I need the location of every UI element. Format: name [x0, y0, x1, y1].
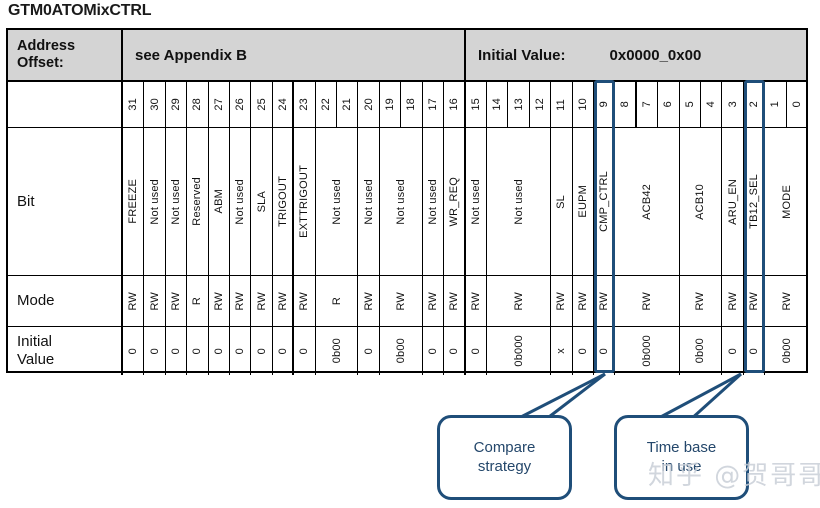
- bit-field-name-cell: ARU_EN: [722, 128, 743, 275]
- bit-field-mode-text: RW: [781, 292, 793, 311]
- bit-field-mode-cell: RW: [294, 276, 315, 326]
- bit-field-name-cell: EXTTRIGOUT: [294, 128, 315, 275]
- bit-field-initial-cell: 0: [123, 327, 144, 375]
- address-offset-label-line2: Offset:: [17, 55, 75, 72]
- bit-field-initial-text: 0: [427, 348, 439, 354]
- bit-field-name-text: Not used: [363, 179, 375, 225]
- mode-row: Mode RWRWRWRRWRWRWRWRWRRWRWRWRWRWRWRWRWR…: [8, 276, 806, 327]
- bit-field-name-cell: ACB42: [615, 128, 679, 275]
- bit-field-initial-text: 0: [298, 348, 310, 354]
- bit-field-name-text: Not used: [427, 179, 439, 225]
- bit-field-name-text: ACB42: [641, 184, 653, 220]
- initial-value-row-label-line1: Initial: [17, 333, 54, 351]
- bit-number-cell: 25: [251, 82, 272, 127]
- bit-field-name-cell: Not used: [487, 128, 551, 275]
- bit-field-name-text: MODE: [781, 185, 793, 219]
- bit-field-mode-text: RW: [213, 292, 225, 311]
- bit-number-text: 7: [641, 101, 653, 107]
- bit-number-cell: 9: [594, 82, 615, 127]
- bit-field-initial-text: 0: [234, 348, 246, 354]
- bit-number-cell: 4: [701, 82, 722, 127]
- bit-field-initial-text: 0: [448, 348, 460, 354]
- bit-field-mode-text: RW: [727, 292, 739, 311]
- initial-value-header: Initial Value: 0x0000_0x00: [466, 30, 806, 80]
- initial-value-row: Initial Value 0000000000b0000b000000b000…: [8, 327, 806, 375]
- bit-field-name-cell: CMP_CTRL: [594, 128, 615, 275]
- bit-number-text: 28: [191, 98, 203, 111]
- bit-number-cell: 0: [787, 82, 808, 127]
- bit-number-cell: 6: [658, 82, 679, 127]
- bit-field-name-text: Not used: [513, 179, 525, 225]
- bit-number-cell: 21: [337, 82, 358, 127]
- bit-number-cell: 19: [380, 82, 401, 127]
- bit-field-mode-text: RW: [598, 292, 610, 311]
- bit-field-mode-text: RW: [149, 292, 161, 311]
- bit-number-text: 2: [748, 101, 760, 107]
- bit-field-name-cell: Reserved: [187, 128, 208, 275]
- bit-field-mode-cell: RW: [551, 276, 572, 326]
- bit-number-cell: 29: [166, 82, 187, 127]
- bit-field-name-cell: Not used: [166, 128, 187, 275]
- bit-field-initial-cell: 0b00: [765, 327, 808, 375]
- bit-number-cell: 17: [423, 82, 444, 127]
- bit-number-cell: 20: [358, 82, 379, 127]
- bit-field-mode-cell: RW: [358, 276, 379, 326]
- bit-field-mode-cell: RW: [487, 276, 551, 326]
- bit-field-mode-text: RW: [470, 292, 482, 311]
- bit-field-name-cell: EUPM: [573, 128, 594, 275]
- bit-field-name-text: FREEZE: [127, 179, 139, 224]
- bit-field-initial-text: 0: [577, 348, 589, 354]
- bit-field-mode-text: RW: [170, 292, 182, 311]
- bit-number-text: 17: [427, 98, 439, 111]
- screenshot-root: GTM0ATOMixCTRL Address Offset: see Appen…: [0, 0, 820, 508]
- bit-number-text: 23: [298, 98, 310, 111]
- bit-field-initial-text: 0: [191, 348, 203, 354]
- bit-field-mode-cell: R: [187, 276, 208, 326]
- bit-number-cell: 28: [187, 82, 208, 127]
- bit-number-row-label: [8, 82, 123, 127]
- bit-number-cell: 16: [444, 82, 465, 127]
- bit-field-name-cell: MODE: [765, 128, 808, 275]
- bit-number-text: 18: [405, 98, 417, 111]
- bit-field-mode-cell: RW: [123, 276, 144, 326]
- callout-compare-strategy-line1: Compare: [474, 439, 536, 458]
- bit-field-initial-cell: 0: [273, 327, 294, 375]
- bit-field-initial-cell: 0: [466, 327, 487, 375]
- bit-name-row: Bit FREEZENot usedNot usedReservedABMNot…: [8, 128, 806, 276]
- bit-number-cell: 27: [209, 82, 230, 127]
- bit-number-cell: 8: [615, 82, 636, 127]
- bit-number-cell: 2: [744, 82, 765, 127]
- bit-number-cell: 10: [573, 82, 594, 127]
- bit-field-initial-text: 0: [727, 348, 739, 354]
- register-bitfield-table: Address Offset: see Appendix B Initial V…: [6, 28, 808, 373]
- address-offset-header: Address Offset:: [8, 30, 123, 80]
- bit-number-text: 26: [234, 98, 246, 111]
- bit-field-name-cell: ABM: [209, 128, 230, 275]
- bit-field-initial-text: 0: [213, 348, 225, 354]
- initial-value-row-label: Initial Value: [8, 327, 123, 375]
- bit-number-cell: 15: [466, 82, 487, 127]
- bit-number-cell: 13: [508, 82, 529, 127]
- bit-number-cell: 22: [316, 82, 337, 127]
- bit-number-text: 14: [491, 98, 503, 111]
- bit-field-mode-text: RW: [694, 292, 706, 311]
- callout-compare-strategy: Compare strategy: [437, 415, 572, 500]
- bit-number-row: 3130292827262524232221201918171615141312…: [8, 82, 806, 128]
- bit-field-mode-cell: RW: [466, 276, 487, 326]
- bit-field-name-cell: Not used: [316, 128, 359, 275]
- bit-field-initial-cell: 0: [144, 327, 165, 375]
- initial-value-label: Initial Value:: [478, 47, 566, 64]
- callout-time-base: Time base in use: [614, 415, 749, 500]
- appendix-reference: see Appendix B: [123, 30, 466, 80]
- bit-number-text: 8: [619, 101, 631, 107]
- bit-field-mode-text: RW: [555, 292, 567, 311]
- bit-number-text: 5: [684, 101, 696, 107]
- bit-number-text: 6: [662, 101, 674, 107]
- bit-number-cells: 3130292827262524232221201918171615141312…: [123, 82, 806, 127]
- bit-number-cell: 1: [765, 82, 786, 127]
- bit-field-name-cell: TB12_SEL: [744, 128, 765, 275]
- bit-number-text: 20: [363, 98, 375, 111]
- bit-field-initial-cell: 0: [722, 327, 743, 375]
- bit-number-text: 1: [769, 101, 781, 107]
- bit-field-initial-cell: 0: [573, 327, 594, 375]
- register-title: GTM0ATOMixCTRL: [8, 2, 151, 20]
- bit-field-mode-text: RW: [748, 292, 760, 311]
- bit-field-mode-text: RW: [641, 292, 653, 311]
- bit-field-mode-cell: RW: [380, 276, 423, 326]
- bit-field-mode-text: RW: [127, 292, 139, 311]
- bit-number-text: 29: [170, 98, 182, 111]
- bit-field-name-text: Not used: [170, 179, 182, 225]
- bit-field-initial-text: 0: [256, 348, 268, 354]
- bit-number-cell: 11: [551, 82, 572, 127]
- bit-number-text: 9: [598, 101, 610, 107]
- initial-value-value: 0x0000_0x00: [610, 47, 702, 64]
- bit-number-text: 15: [470, 98, 482, 111]
- bit-field-mode-cell: RW: [722, 276, 743, 326]
- bit-field-name-cell: Not used: [423, 128, 444, 275]
- bit-field-name-cell: TRIGOUT: [273, 128, 294, 275]
- bit-field-name-text: TB12_SEL: [748, 174, 760, 229]
- bit-field-name-text: SL: [555, 195, 567, 209]
- bit-field-name-text: ARU_EN: [727, 179, 739, 225]
- bit-field-name-text: Not used: [234, 179, 246, 225]
- bit-field-initial-cell: 0b00: [680, 327, 723, 375]
- bit-number-text: 12: [534, 98, 546, 111]
- bit-field-mode-cell: RW: [144, 276, 165, 326]
- bit-field-initial-cell: 0b00: [316, 327, 359, 375]
- bit-field-mode-text: RW: [427, 292, 439, 311]
- initial-value-cells: 0000000000b0000b000000b000x000b0000b0000…: [123, 327, 806, 375]
- bit-field-mode-text: RW: [234, 292, 246, 311]
- bit-field-initial-text: x: [555, 348, 567, 354]
- bit-field-name-text: WR_REQ: [448, 177, 460, 226]
- mode-cells: RWRWRWRRWRWRWRWRWRRWRWRWRWRWRWRWRWRWRWRW…: [123, 276, 806, 326]
- bit-field-name-cell: Not used: [466, 128, 487, 275]
- bit-field-name-text: SLA: [256, 191, 268, 212]
- address-offset-label-line1: Address: [17, 38, 75, 55]
- bit-number-text: 31: [127, 98, 139, 111]
- bit-field-initial-text: 0: [149, 348, 161, 354]
- bit-row-label: Bit: [8, 128, 123, 275]
- bit-field-mode-text: RW: [395, 292, 407, 311]
- bit-number-text: 25: [256, 98, 268, 111]
- bit-field-name-cell: SL: [551, 128, 572, 275]
- bit-field-mode-cell: RW: [423, 276, 444, 326]
- bit-field-initial-cell: 0: [294, 327, 315, 375]
- bit-number-cell: 5: [680, 82, 701, 127]
- bit-number-text: 13: [513, 98, 525, 111]
- bit-field-initial-text: 0: [363, 348, 375, 354]
- bit-field-initial-cell: 0: [187, 327, 208, 375]
- bit-field-initial-text: 0: [470, 348, 482, 354]
- bit-number-cell: 12: [530, 82, 551, 127]
- bit-number-text: 4: [705, 101, 717, 107]
- bit-field-mode-cell: RW: [251, 276, 272, 326]
- bit-field-initial-text: 0b00: [395, 338, 407, 363]
- bit-number-text: 27: [213, 98, 225, 111]
- callout-time-base-line2: in use: [661, 458, 701, 477]
- bit-field-mode-cell: RW: [680, 276, 723, 326]
- bit-field-initial-text: 0b00: [781, 338, 793, 363]
- bit-field-name-text: CMP_CTRL: [598, 171, 610, 232]
- bit-field-name-text: ACB10: [694, 184, 706, 220]
- bit-field-name-cell: ACB10: [680, 128, 723, 275]
- bit-field-name-text: EUPM: [577, 185, 589, 218]
- bit-number-text: 0: [791, 101, 803, 107]
- bit-field-initial-cell: 0b000: [487, 327, 551, 375]
- bit-field-mode-cell: RW: [615, 276, 679, 326]
- bit-field-name-text: TRIGOUT: [277, 176, 289, 227]
- bit-field-mode-cell: RW: [744, 276, 765, 326]
- bit-field-mode-text: RW: [513, 292, 525, 311]
- bit-field-initial-cell: 0: [444, 327, 465, 375]
- bit-field-mode-cell: R: [316, 276, 359, 326]
- bit-field-mode-text: RW: [298, 292, 310, 311]
- bit-number-cell: 31: [123, 82, 144, 127]
- bit-field-initial-cell: 0: [251, 327, 272, 375]
- bit-field-initial-cell: x: [551, 327, 572, 375]
- bit-number-cell: 24: [273, 82, 294, 127]
- bit-field-initial-cell: 0: [594, 327, 615, 375]
- bit-field-initial-text: 0: [748, 348, 760, 354]
- bit-field-initial-text: 0: [127, 348, 139, 354]
- table-header-row: Address Offset: see Appendix B Initial V…: [8, 30, 806, 82]
- bit-field-initial-cell: 0: [166, 327, 187, 375]
- bit-number-cell: 18: [401, 82, 422, 127]
- initial-value-row-label-line2: Value: [17, 351, 54, 369]
- bit-number-text: 21: [341, 98, 353, 111]
- bit-field-initial-cell: 0: [423, 327, 444, 375]
- bit-field-mode-text: RW: [256, 292, 268, 311]
- bit-number-text: 19: [384, 98, 396, 111]
- bit-number-text: 3: [727, 101, 739, 107]
- bit-field-mode-text: RW: [277, 292, 289, 311]
- bit-field-name-cell: Not used: [380, 128, 423, 275]
- bit-number-cell: 30: [144, 82, 165, 127]
- bit-number-cell: 7: [637, 82, 658, 127]
- bit-number-cell: 23: [294, 82, 315, 127]
- bit-field-mode-cell: RW: [273, 276, 294, 326]
- bit-field-initial-cell: 0: [744, 327, 765, 375]
- bit-field-mode-text: RW: [577, 292, 589, 311]
- bit-field-initial-text: 0: [170, 348, 182, 354]
- bit-field-name-text: ABM: [213, 189, 225, 213]
- bit-field-initial-cell: 0: [209, 327, 230, 375]
- bit-number-text: 22: [320, 98, 332, 111]
- bit-field-name-text: Not used: [149, 179, 161, 225]
- bit-number-cell: 3: [722, 82, 743, 127]
- bit-field-initial-text: 0b00: [694, 338, 706, 363]
- bit-field-name-text: Not used: [470, 179, 482, 225]
- bit-field-initial-cell: 0: [230, 327, 251, 375]
- bit-number-text: 24: [277, 98, 289, 111]
- bit-field-mode-cell: RW: [573, 276, 594, 326]
- bit-number-text: 16: [448, 98, 460, 111]
- bit-field-initial-cell: 0b00: [380, 327, 423, 375]
- bit-field-name-cell: SLA: [251, 128, 272, 275]
- bit-field-mode-text: R: [191, 297, 203, 305]
- bit-field-name-cell: Not used: [230, 128, 251, 275]
- bit-field-initial-text: 0: [598, 348, 610, 354]
- bit-field-name-text: Not used: [395, 179, 407, 225]
- bit-name-cells: FREEZENot usedNot usedReservedABMNot use…: [123, 128, 806, 275]
- bit-number-cell: 14: [487, 82, 508, 127]
- bit-field-name-cell: WR_REQ: [444, 128, 465, 275]
- bit-field-initial-text: 0: [277, 348, 289, 354]
- bit-field-mode-cell: RW: [594, 276, 615, 326]
- bit-field-initial-text: 0b000: [641, 335, 653, 367]
- bit-field-initial-text: 0b000: [513, 335, 525, 367]
- bit-field-mode-cell: RW: [166, 276, 187, 326]
- bit-field-mode-cell: RW: [209, 276, 230, 326]
- callout-compare-strategy-line2: strategy: [478, 458, 531, 477]
- bit-field-name-text: Reserved: [191, 177, 203, 226]
- bit-field-initial-cell: 0: [358, 327, 379, 375]
- bit-number-text: 10: [577, 98, 589, 111]
- bit-field-initial-cell: 0b000: [615, 327, 679, 375]
- callout-time-base-line1: Time base: [647, 439, 716, 458]
- bit-number-cell: 26: [230, 82, 251, 127]
- bit-field-name-cell: Not used: [358, 128, 379, 275]
- bit-field-mode-text: RW: [363, 292, 375, 311]
- bit-field-name-cell: FREEZE: [123, 128, 144, 275]
- bit-field-initial-text: 0b00: [331, 338, 343, 363]
- bit-field-name-text: Not used: [331, 179, 343, 225]
- mode-row-label: Mode: [8, 276, 123, 326]
- bit-field-mode-text: R: [331, 297, 343, 305]
- bit-number-text: 11: [555, 99, 567, 111]
- bit-number-text: 30: [149, 98, 161, 111]
- bit-field-mode-text: RW: [448, 292, 460, 311]
- bit-field-name-text: EXTTRIGOUT: [298, 165, 310, 238]
- bit-field-mode-cell: RW: [765, 276, 808, 326]
- bit-field-mode-cell: RW: [230, 276, 251, 326]
- bit-field-mode-cell: RW: [444, 276, 465, 326]
- bit-field-name-cell: Not used: [144, 128, 165, 275]
